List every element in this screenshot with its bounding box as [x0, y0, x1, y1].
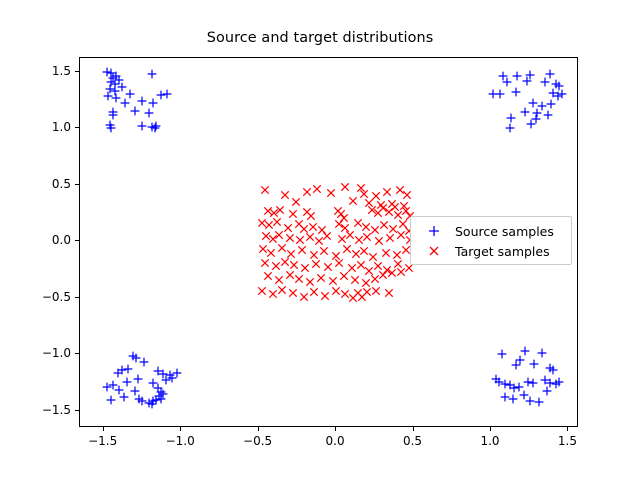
x-tick-mark [258, 427, 259, 431]
x-tick-mark [567, 427, 568, 431]
x-tick-mark [103, 427, 104, 431]
x-tick-label: 0.0 [326, 434, 345, 448]
y-tick-label: 1.0 [0, 120, 71, 134]
matplotlib-figure: Source and target distributions −1.5−1.0… [0, 0, 640, 480]
x-tick-label: 1.5 [558, 434, 577, 448]
y-tick-label: −0.5 [0, 290, 71, 304]
y-tick-mark [75, 127, 79, 128]
y-tick-mark [75, 297, 79, 298]
x-tick-mark [180, 427, 181, 431]
y-tick-label: −1.0 [0, 346, 71, 360]
x-tick-label: 0.5 [403, 434, 422, 448]
x-tick-mark [335, 427, 336, 431]
x-tick-mark [413, 427, 414, 431]
y-tick-mark [75, 353, 79, 354]
legend-label-target: Target samples [451, 244, 550, 259]
y-tick-label: 0.5 [0, 177, 71, 191]
y-tick-label: −1.5 [0, 403, 71, 417]
y-tick-label: 0.0 [0, 233, 71, 247]
y-tick-mark [75, 240, 79, 241]
x-tick-label: −1.5 [88, 434, 117, 448]
x-tick-mark [490, 427, 491, 431]
y-tick-mark [75, 71, 79, 72]
x-tick-label: 1.0 [480, 434, 499, 448]
legend-item-source: Source samples [417, 221, 565, 241]
page-title: Source and target distributions [0, 30, 640, 46]
y-tick-label: 1.5 [0, 64, 71, 78]
x-tick-label: −0.5 [243, 434, 272, 448]
x-tick-label: −1.0 [166, 434, 195, 448]
legend-label-source: Source samples [451, 224, 554, 239]
legend-box: Source samples Target samples [410, 216, 572, 265]
plus-icon [417, 225, 451, 237]
legend-item-target: Target samples [417, 241, 565, 261]
y-tick-mark [75, 184, 79, 185]
y-tick-mark [75, 410, 79, 411]
cross-icon [417, 245, 451, 257]
